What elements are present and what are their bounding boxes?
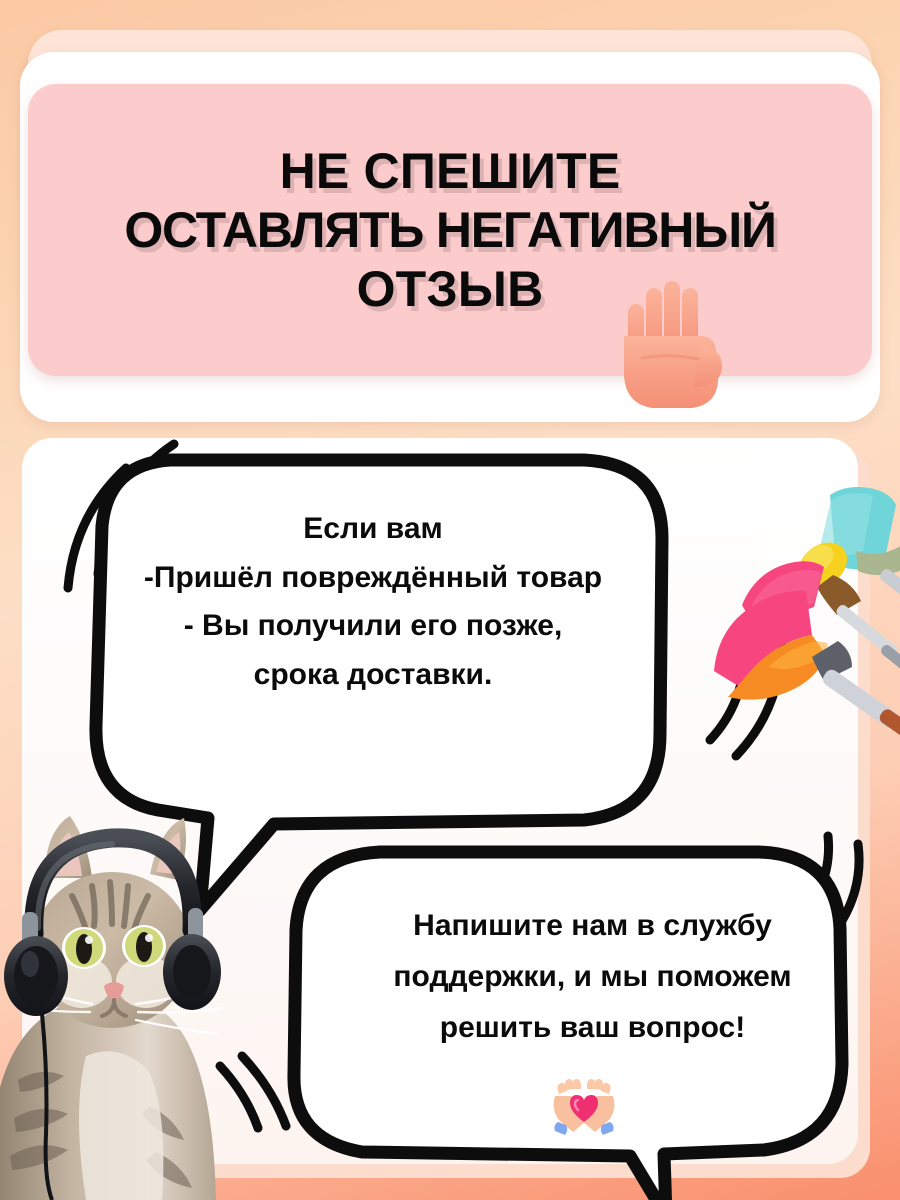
headline-box: НЕ СПЕШИТЕ ОСТАВЛЯТЬ НЕГАТИВНЫЙ ОТЗЫВ: [28, 84, 872, 376]
bubble-top-text: Если вам -Пришёл повреждённый товар - Вы…: [58, 505, 688, 699]
cat-photo: [0, 800, 270, 1200]
poster-canvas: НЕ СПЕШИТЕ ОСТАВЛЯТЬ НЕГАТИВНЫЙ ОТЗЫВ: [0, 0, 900, 1200]
bubble-bottom-line-2: поддержки, и мы поможем: [305, 951, 880, 1002]
bubble-bottom-line-3: решить ваш вопрос!: [305, 1002, 880, 1053]
page-title: НЕ СПЕШИТЕ ОСТАВЛЯТЬ НЕГАТИВНЫЙ ОТЗЫВ: [28, 142, 872, 319]
brush-pink: [714, 561, 900, 752]
paintbrushes-decoration: [690, 455, 900, 800]
raised-hand-icon: [612, 262, 730, 412]
bubble-top-line-1: Если вам: [58, 505, 688, 554]
heart-hands-icon: [545, 1078, 623, 1136]
bubble-top-line-4: срока доставки.: [58, 651, 688, 700]
headline-line-1: НЕ СПЕШИТЕ: [40, 142, 860, 201]
bubble-bottom-text: Напишите нам в службу поддержки, и мы по…: [305, 900, 880, 1053]
bubble-top-line-3: - Вы получили его позже,: [58, 602, 688, 651]
headline-line-2: ОСТАВЛЯТЬ НЕГАТИВНЫЙ: [40, 201, 860, 260]
headline-line-3: ОТЗЫВ: [40, 260, 860, 319]
bubble-bottom-line-1: Напишите нам в службу: [305, 900, 880, 951]
bubble-top-line-2: -Пришёл повреждённый товар: [58, 554, 688, 603]
cat-with-headphones-illustration: [0, 800, 270, 1200]
